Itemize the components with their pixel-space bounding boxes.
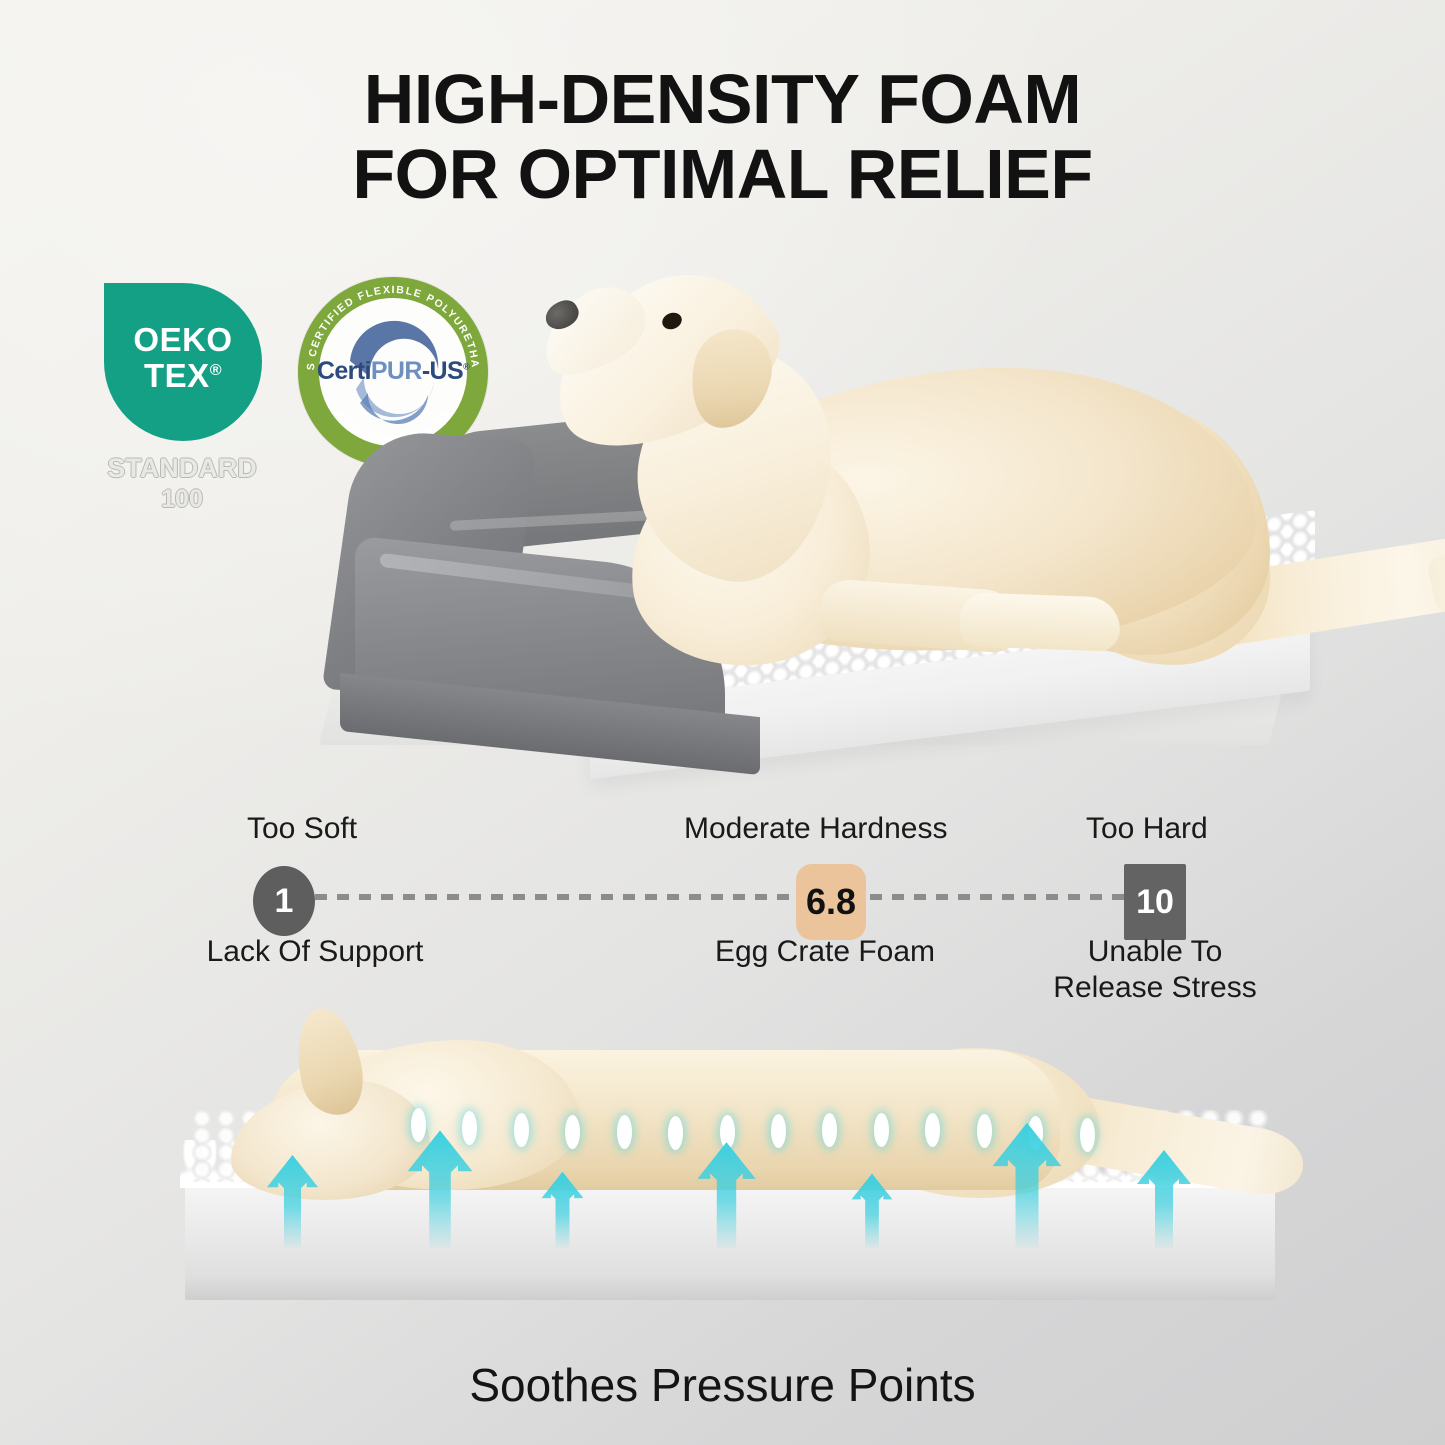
- oeko-standard-text: STANDARD: [107, 453, 257, 483]
- oeko-standard-number: 100: [62, 484, 302, 514]
- pressure-arrow-icon: [850, 1172, 894, 1248]
- product-photo-dog-on-bed: [300, 255, 1335, 785]
- scale-node-min: 1: [253, 866, 315, 936]
- scale-top-label-left: Too Soft: [247, 812, 357, 846]
- scale-node-max-value: 10: [1136, 883, 1174, 922]
- headline-line-2: FOR OPTIMAL RELIEF: [0, 137, 1445, 212]
- scale-node-max: 10: [1124, 864, 1186, 940]
- dog-second-paw: [959, 592, 1121, 652]
- pressure-arrow-icon: [695, 1140, 758, 1248]
- spine-dot: [925, 1113, 940, 1147]
- pressure-arrow-icon: [540, 1170, 585, 1248]
- bottom-caption: Soothes Pressure Points: [0, 1358, 1445, 1412]
- scale-track: [300, 894, 1150, 900]
- scale-dash-segment-left: [315, 894, 815, 900]
- headline-line-1: HIGH-DENSITY FOAM: [364, 60, 1081, 138]
- scale-dash-segment-right: [870, 894, 1130, 900]
- spine-dot: [668, 1116, 683, 1150]
- scale-bottom-label-left: Lack Of Support: [190, 934, 440, 970]
- oeko-standard-caption: STANDARD 100: [62, 452, 302, 514]
- scale-node-rating-value: 6.8: [806, 881, 856, 923]
- pressure-arrow-icon: [405, 1128, 475, 1248]
- oeko-label-line-1: OEKO: [104, 321, 262, 359]
- certipur-wordmark: CertiPUR-US®: [298, 357, 488, 386]
- spine-dot: [514, 1113, 529, 1147]
- spine-dot: [874, 1113, 889, 1147]
- hardness-scale: Too Soft Moderate Hardness Too Hard 1 6.…: [0, 812, 1445, 1012]
- scale-top-label-right: Too Hard: [1086, 812, 1208, 846]
- pressure-arrow-icon: [990, 1120, 1064, 1248]
- pressure-relief-illustration: [150, 990, 1310, 1320]
- page-title: HIGH-DENSITY FOAM FOR OPTIMAL RELIEF: [0, 62, 1445, 212]
- spine-dot: [617, 1115, 632, 1149]
- infographic-page: HIGH-DENSITY FOAM FOR OPTIMAL RELIEF OEK…: [0, 0, 1445, 1445]
- oeko-label-line-2: TEX®: [104, 357, 262, 395]
- scale-top-label-mid: Moderate Hardness: [684, 812, 947, 846]
- registered-mark-icon: ®: [210, 362, 222, 379]
- spine-dot: [771, 1114, 786, 1148]
- spine-dot: [1080, 1118, 1095, 1152]
- oeko-tex-badge: OEKO TEX®: [104, 283, 262, 441]
- scale-node-min-value: 1: [275, 882, 294, 921]
- scale-node-rating: 6.8: [796, 864, 866, 940]
- scale-bottom-label-mid: Egg Crate Foam: [705, 934, 945, 970]
- pressure-arrow-icon: [1135, 1148, 1193, 1248]
- pressure-arrow-icon: [265, 1153, 320, 1248]
- registered-mark-icon: ®: [463, 362, 469, 372]
- scale-bottom-label-right-line-1: Unable To: [1088, 935, 1223, 968]
